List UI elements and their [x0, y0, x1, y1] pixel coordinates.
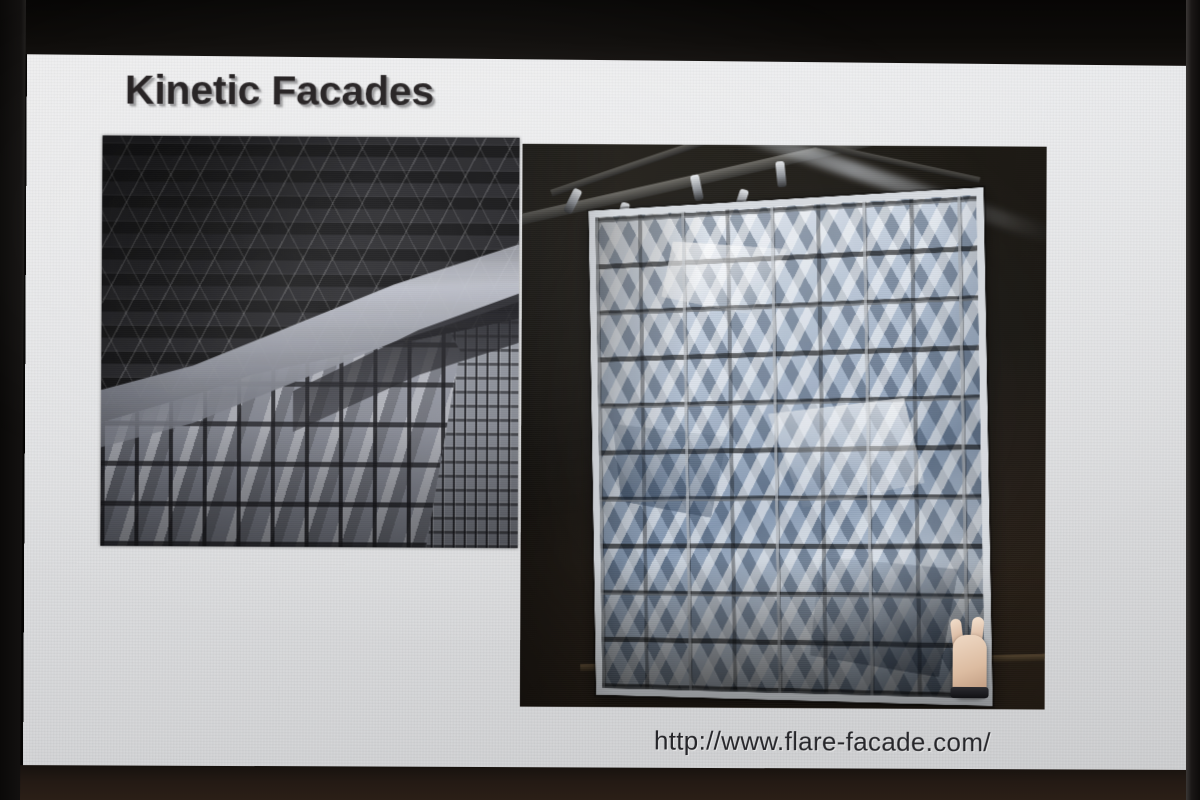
- room-dark-band-right: [1186, 0, 1200, 800]
- left-facade-photo: [100, 135, 519, 548]
- panel-frame: [589, 187, 993, 706]
- slide-title: Kinetic Facades: [125, 67, 434, 116]
- panel-shading: [595, 195, 985, 699]
- right-flare-photo: [520, 144, 1047, 710]
- projected-slide-photo: Kinetic Facades: [0, 0, 1200, 800]
- flare-panel: [589, 187, 993, 706]
- source-url-caption: http://www.flare-facade.com/: [654, 725, 991, 758]
- wristband: [950, 687, 988, 698]
- projector-scanlines: [100, 135, 519, 548]
- presenter-hand: [948, 617, 992, 703]
- slide-canvas: Kinetic Facades: [23, 53, 1192, 774]
